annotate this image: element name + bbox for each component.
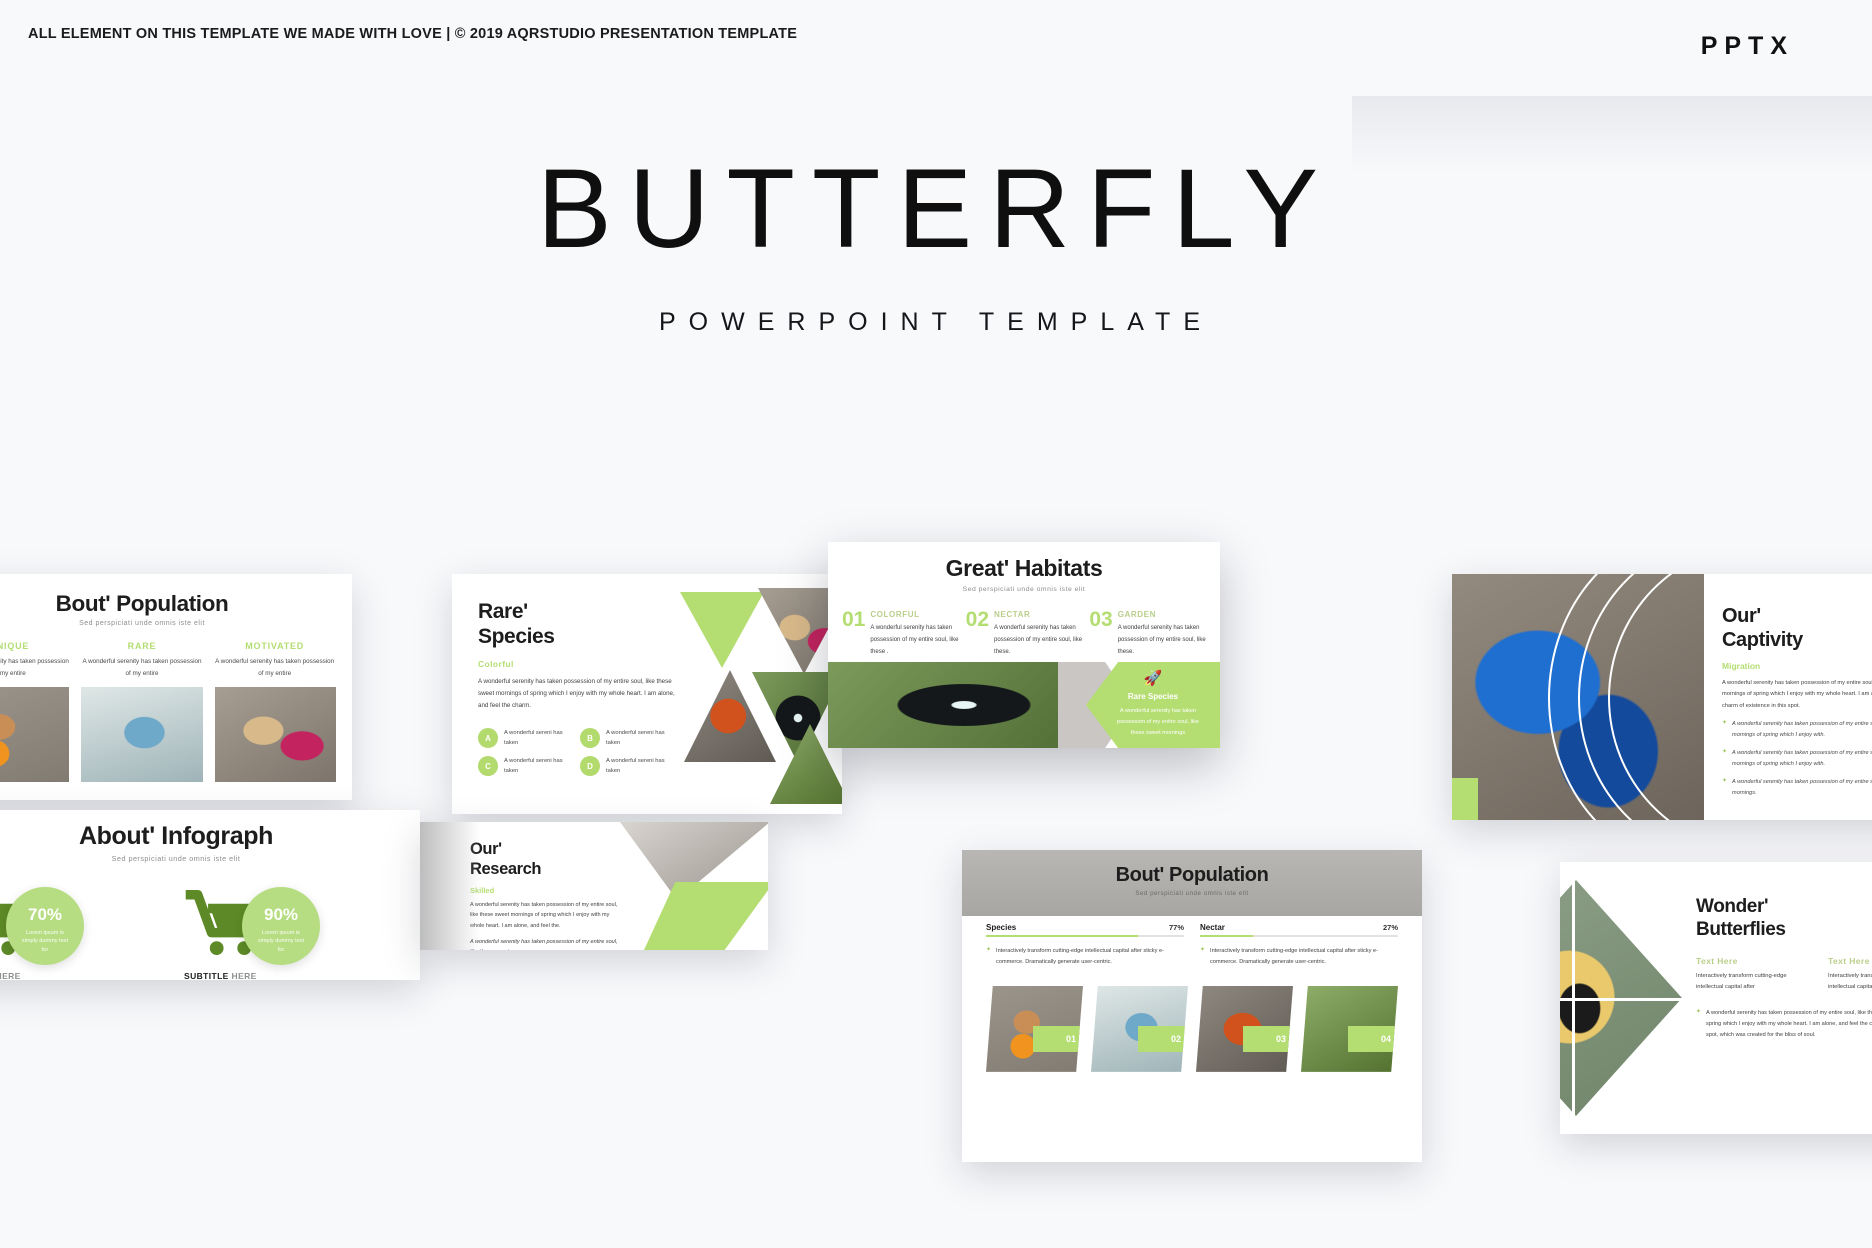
list-item-text: A wonderful sereni has taken [504,756,570,777]
feature-label: MOTIVATED [213,641,336,651]
slide-title: Bout' Population [0,591,352,617]
letter-badge: B [580,728,600,748]
slide-subtitle: Sed perspiciati unde omnis iste elit [0,854,420,863]
decorative-green-shape [644,882,768,950]
letter-badge: A [478,728,498,748]
gallery-tag: 02 [1138,1026,1188,1052]
column-label: Text Here [1828,956,1872,966]
decorative-crosshair-horizontal [1560,998,1682,1001]
decorative-triangle [680,592,764,668]
bullet-text: A wonderful serenity has taken possessio… [1732,719,1872,741]
point-text: A wonderful serenity has taken possessio… [994,622,1082,658]
infograph-unit: 70% Lorem ipsum is simply dummy text for… [0,885,172,980]
feature-columns: UNIQUE A wonderful serenity has taken po… [0,627,352,679]
percent-caption: Lorem ipsum is simply dummy text for [242,929,320,954]
gallery-tag: 04 [1348,1026,1398,1052]
bullet-item: ✦ A wonderful serenity has taken possess… [1722,719,1872,741]
list-item: B A wonderful sereni has taken [580,728,672,749]
gallery-item: 03 [1196,986,1293,1072]
list-item-text: A wonderful sereni has taken [606,756,672,777]
slide-our-captivity[interactable]: Our' Captivity Migration A wonderful ser… [1452,574,1872,820]
slide-about-infograph[interactable]: About' Infograph Sed perspiciati unde om… [0,810,420,980]
slide-title-line2: Research [470,860,618,880]
point-label: COLORFUL [870,610,958,619]
point-text: A wonderful serenity has taken possessio… [1118,622,1206,658]
bullet-text: A wonderful serenity has taken possessio… [1732,777,1872,799]
photo-row [0,679,352,782]
slide-title: About' Infograph [0,822,420,851]
percent-value: 90% [242,905,320,925]
list-item: D A wonderful sereni has taken [580,756,672,777]
credit-text: ALL ELEMENT ON THIS TEMPLATE WE MADE WIT… [28,26,797,42]
slide-title-line2: Butterflies [1696,919,1872,942]
point-body: NECTAR A wonderful serenity has taken po… [994,610,1082,658]
slide-title-line2: Species [478,625,676,650]
progress-label: Species [986,923,1016,932]
slide-subtitle: Sed perspiciati unde omnis iste elit [962,890,1422,897]
gallery-item: 01 [986,986,1083,1072]
text-column: Text Here Interactively transform cuttin… [1696,956,1810,994]
bullet-text: A wonderful serenity has taken possessio… [1706,1008,1872,1042]
top-bar: ALL ELEMENT ON THIS TEMPLATE WE MADE WIT… [0,0,1872,78]
point-body: GARDEN A wonderful serenity has taken po… [1118,610,1206,658]
banner-title: Rare Species [1086,692,1220,701]
text-columns: Text Here Interactively transform cuttin… [1696,956,1872,994]
feature-label: RARE [81,641,204,651]
slide-paragraph: A wonderful serenity has taken possessio… [1722,678,1872,712]
pptx-badge: PPTX [1701,32,1794,61]
lettered-list: A A wonderful sereni has taken B A wonde… [478,728,678,777]
progress-percent: 77% [1169,923,1184,932]
decorative-crosshair-vertical [1572,878,1575,1118]
feature-text: A wonderful serenity has taken possessio… [81,656,204,679]
progress-row: Nectar 27% ✦ Interactively transform cut… [1200,923,1398,968]
point-text: A wonderful serenity has taken possessio… [870,622,958,658]
progress-row: Species 77% ✦ Interactively transform cu… [986,923,1184,968]
decorative-fade [420,822,480,950]
slide-subtitle: Sed perspiciati unde omnis iste elit [0,620,352,627]
list-item: C A wonderful sereni has taken [478,756,570,777]
diamond-bullet-icon: ✦ [1722,777,1727,799]
slide-bout-population-top[interactable]: Bout' Population Sed perspiciati unde om… [0,574,352,800]
slide-header: Bout' Population Sed perspiciati unde om… [962,850,1422,897]
banner-band: 🚀 Rare Species A wonderful serenity has … [828,662,1220,748]
photo-butterfly-orange-flower [0,687,69,782]
gallery-item: 04 [1301,986,1398,1072]
bullet-text: Interactively transform cutting-edge int… [1210,946,1398,968]
slide-paragraph: A wonderful serenity has taken possessio… [478,676,676,713]
percent-badge: 90% Lorem ipsum is simply dummy text for [242,887,320,965]
slide-title-line1: Our' [470,840,618,860]
list-item: A A wonderful sereni has taken [478,728,570,749]
feature-text: A wonderful serenity has taken possessio… [213,656,336,679]
hero-block: BUTTERFLY POWERPOINT TEMPLATE [0,150,1872,337]
list-item-text: A wonderful sereni has taken [504,728,570,749]
feature-label: UNIQUE [0,641,71,651]
gallery-tag: 03 [1243,1026,1293,1052]
slide-copy: Wonder' Butterflies Text Here Interactiv… [1696,896,1872,1041]
infograph-unit: 90% Lorem ipsum is simply dummy text for… [180,885,408,980]
slide-bullet-1: A wonderful serenity has taken possessio… [470,937,618,950]
bullet-item: ✦ Interactively transform cutting-edge i… [1200,946,1398,968]
slide-copy: Our' Research Skilled A wonderful sereni… [470,840,618,950]
column-text: Interactively transform cutting-edge int… [1828,971,1872,994]
diamond-bullet-icon: ✦ [1696,1008,1701,1042]
progress-track [986,935,1184,937]
point-label: NECTAR [994,610,1082,619]
progress-header: Nectar 27% [1200,923,1398,932]
slide-title: Bout' Population [962,864,1422,887]
numbered-point: 01 COLORFUL A wonderful serenity has tak… [842,610,959,658]
point-body: COLORFUL A wonderful serenity has taken … [870,610,958,658]
progress-label: Nectar [1200,923,1225,932]
diamond-bullet-icon: ✦ [1722,748,1727,770]
progress-percent: 27% [1383,923,1398,932]
bullet-text: A wonderful serenity has taken possessio… [1732,748,1872,770]
bullet-item: ✦ A wonderful serenity has taken possess… [1722,748,1872,770]
unit-subtitle: SUBTITLE HERE [0,971,21,980]
photo-butterfly-pink-flowers [215,687,336,782]
feature-column: UNIQUE A wonderful serenity has taken po… [0,641,71,679]
feature-column: MOTIVATED A wonderful serenity has taken… [213,641,336,679]
slide-paragraph: A wonderful serenity has taken possessio… [470,900,618,932]
slide-great-habitats[interactable]: Great' Habitats Sed perspiciati unde omn… [828,542,1220,748]
column-label: Text Here [1696,956,1810,966]
progress-fill [986,935,1138,937]
bullet-item: ✦ A wonderful serenity has taken possess… [1696,1008,1872,1042]
unit-subtitle-light: HERE [0,971,21,980]
slide-wonder-butterflies[interactable]: Wonder' Butterflies Text Here Interactiv… [1560,862,1872,1134]
slide-title: Great' Habitats [828,555,1220,582]
slide-title-line1: Wonder' [1696,896,1872,919]
point-number: 03 [1089,610,1112,658]
diamond-bullet-icon: ✦ [1722,719,1727,741]
letter-badge: D [580,756,600,776]
point-number: 01 [842,610,865,658]
slide-kicker: Colorful [478,659,676,669]
numbered-point: 02 NECTAR A wonderful serenity has taken… [966,610,1083,658]
bullet-item: ✦ A wonderful serenity has taken possess… [1722,777,1872,799]
infograph-units: 70% Lorem ipsum is simply dummy text for… [0,863,420,980]
point-number: 02 [966,610,989,658]
page-subtitle: POWERPOINT TEMPLATE [0,308,1872,337]
bullet-item: ✦ Interactively transform cutting-edge i… [986,946,1184,968]
percent-value: 70% [6,905,84,925]
slide-title-line2: Captivity [1722,628,1872,652]
slide-copy: Our' Captivity Migration A wonderful ser… [1722,604,1872,799]
slide-header: Great' Habitats Sed perspiciati unde omn… [828,542,1220,593]
progress-header: Species 77% [986,923,1184,932]
list-item-text: A wonderful sereni has taken [606,728,672,749]
unit-subtitle-bold: SUBTITLE [184,971,229,980]
decorative-green-chip [1452,778,1478,820]
slide-kicker: Skilled [470,886,618,895]
photo-blue-butterfly [81,687,202,782]
letter-badge: C [478,756,498,776]
percent-badge: 70% Lorem ipsum is simply dummy text for [6,887,84,965]
slide-title-line1: Our' [1722,604,1872,628]
feature-column: RARE A wonderful serenity has taken poss… [81,641,204,679]
slide-kicker: Migration [1722,661,1872,671]
photo-blue-morpho-butterfly [1452,574,1704,820]
slide-header: About' Infograph Sed perspiciati unde om… [0,810,420,863]
slide-subtitle: Sed perspiciati unde omnis iste elit [828,586,1220,593]
slide-rare-species[interactable]: Rare' Species Colorful A wonderful seren… [452,574,842,814]
slide-title-line1: Rare' [478,600,676,625]
slide-header: Bout' Population Sed perspiciati unde om… [0,574,352,627]
text-column: Text Here Interactively transform cuttin… [1828,956,1872,994]
diamond-bullet-icon: ✦ [986,946,991,968]
feature-text: A wonderful serenity has taken possessio… [0,656,71,679]
progress-track [1200,935,1398,937]
column-text: Interactively transform cutting-edge int… [1696,971,1810,994]
slide-our-research[interactable]: Our' Research Skilled A wonderful sereni… [420,822,768,950]
point-label: GARDEN [1118,610,1206,619]
gallery-tag: 01 [1033,1026,1083,1052]
slide-copy: Rare' Species Colorful A wonderful seren… [478,600,676,776]
numbered-point: 03 GARDEN A wonderful serenity has taken… [1089,610,1206,658]
numbered-points: 01 COLORFUL A wonderful serenity has tak… [828,593,1220,658]
unit-subtitle: SUBTITLE HERE [184,971,257,980]
page-title: BUTTERFLY [0,150,1872,268]
diamond-bullet-icon: ✦ [1200,946,1205,968]
photo-gallery: 01 02 03 04 [962,968,1422,1072]
progress-fill [1200,935,1253,937]
unit-subtitle-light: HERE [232,971,257,980]
percent-caption: Lorem ipsum is simply dummy text for [6,929,84,954]
bullet-text: Interactively transform cutting-edge int… [996,946,1184,968]
slide-bout-population-bottom[interactable]: Bout' Population Sed perspiciati unde om… [962,850,1422,1162]
gallery-item: 02 [1091,986,1188,1072]
